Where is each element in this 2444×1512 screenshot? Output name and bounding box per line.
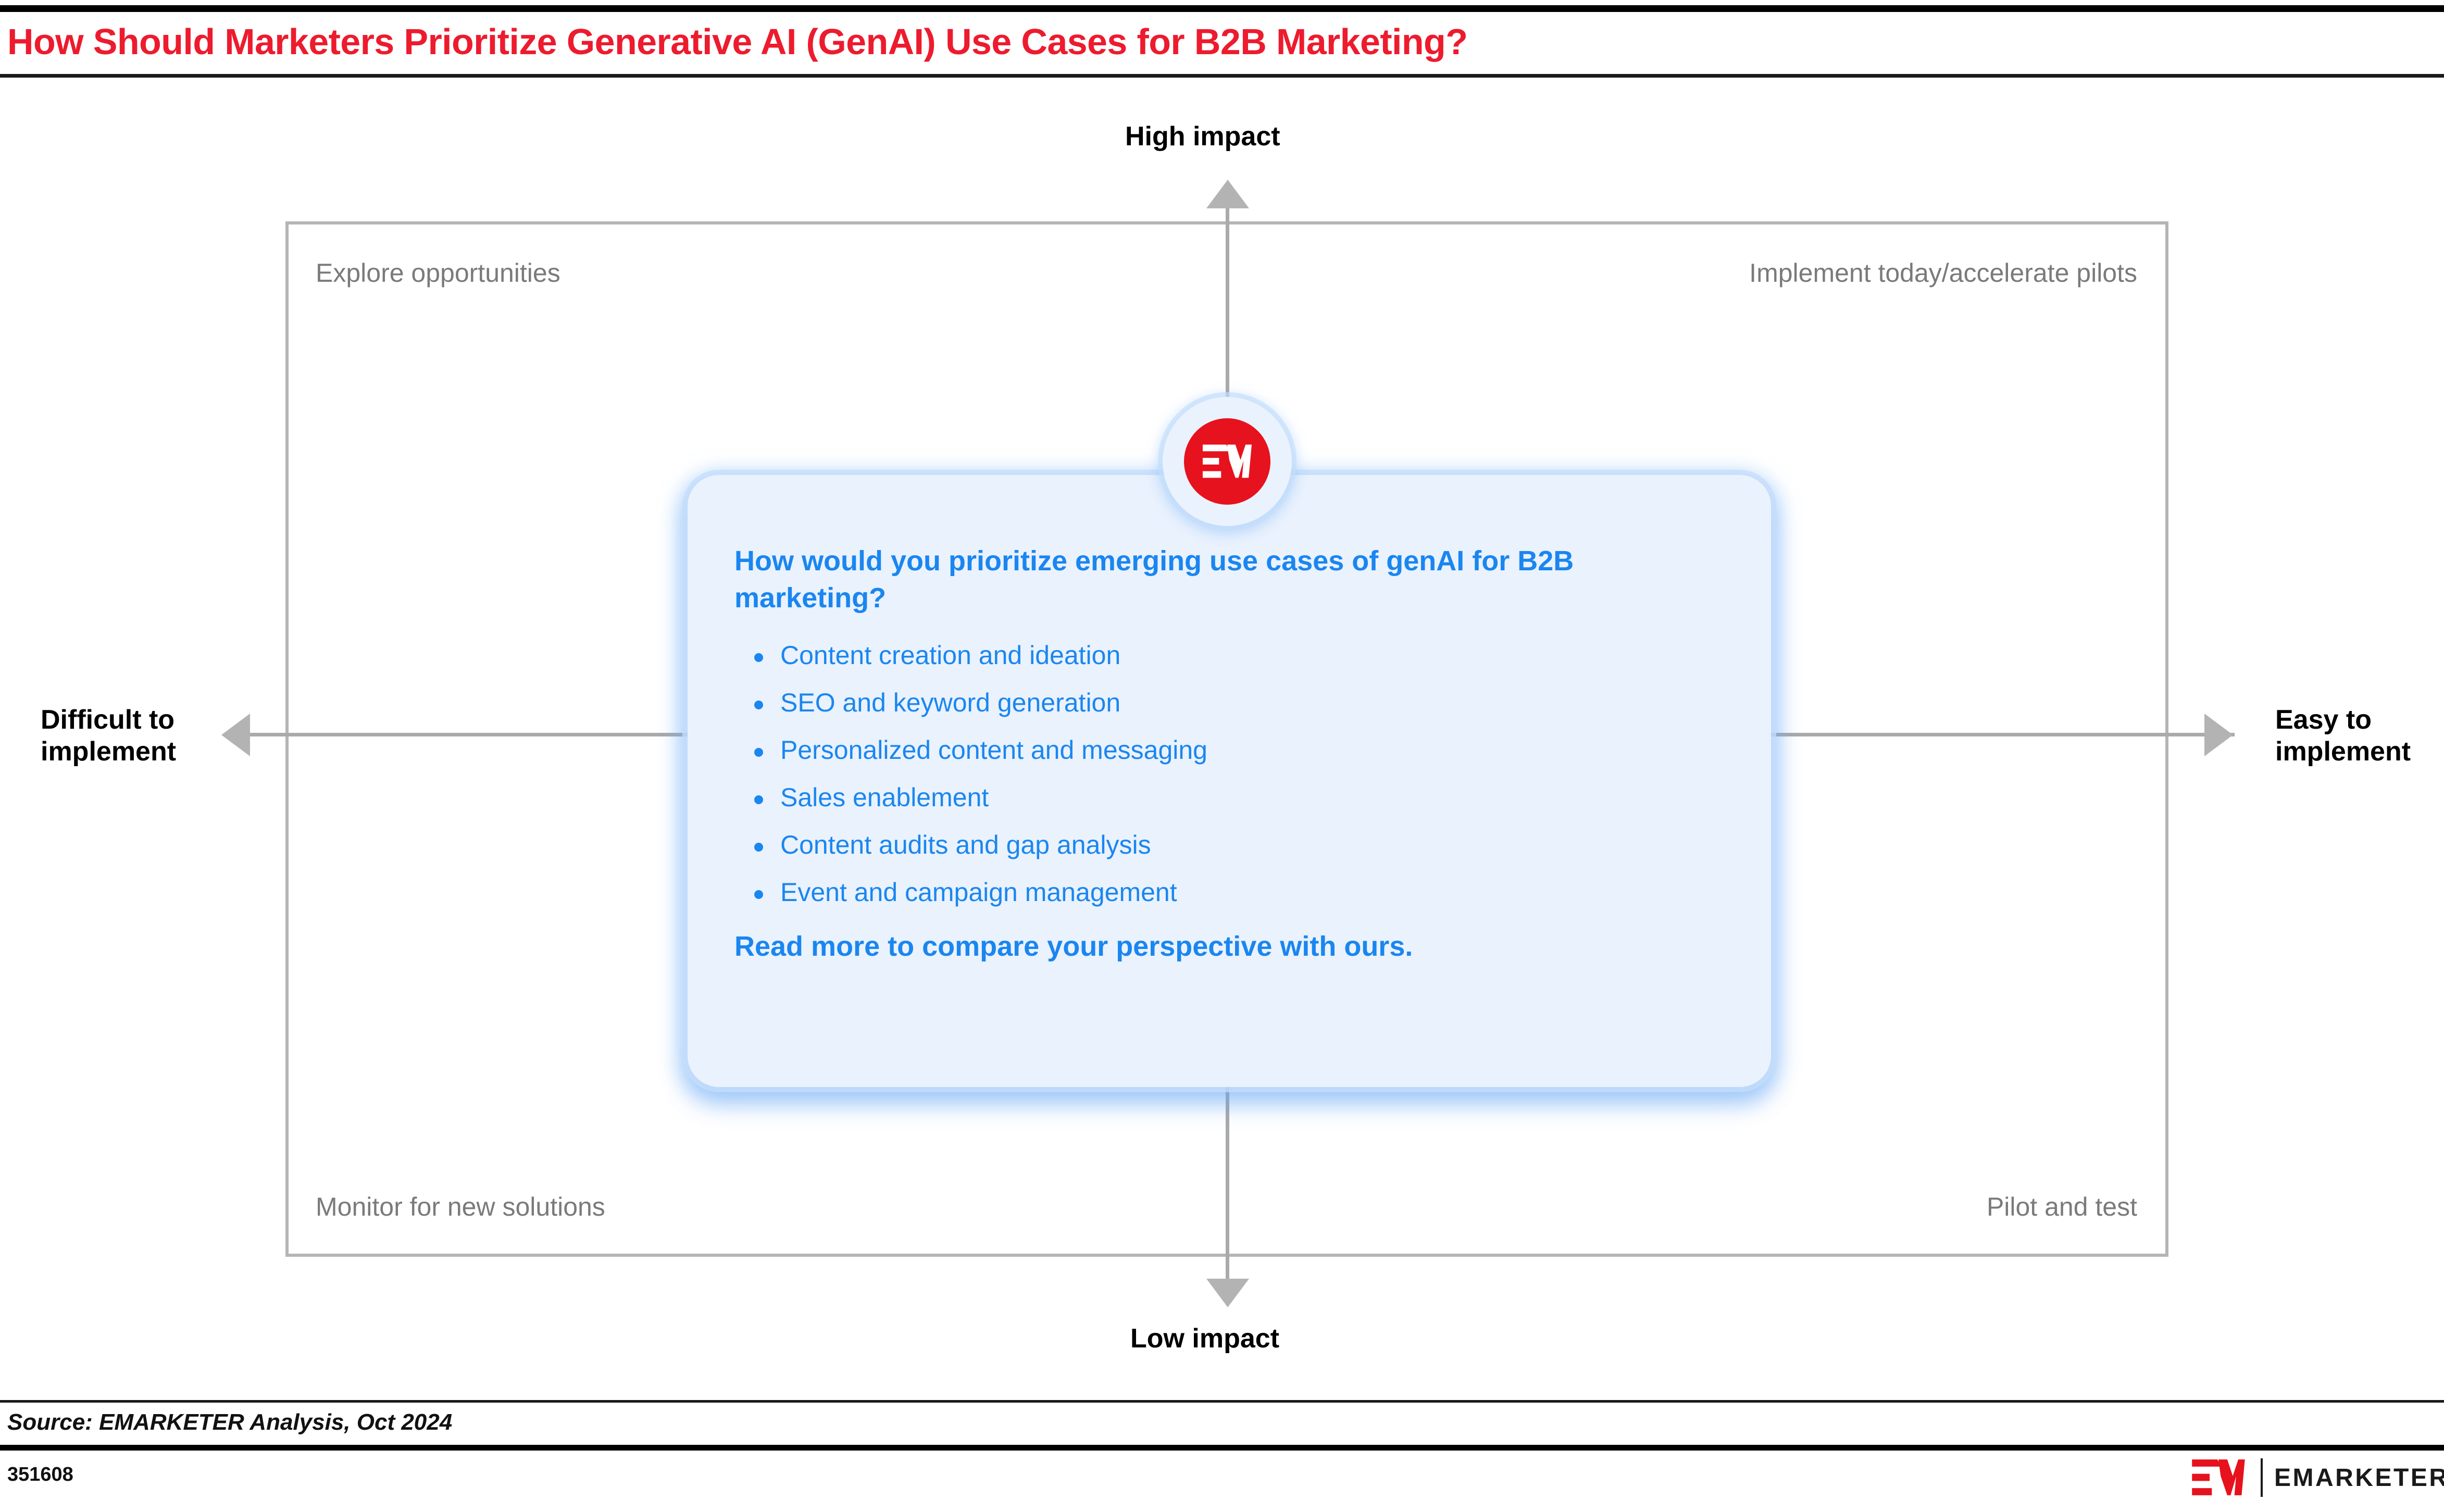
callout-heading: How would you prioritize emerging use ca… [734,543,1714,617]
axis-label-left-line2: implement [41,736,228,768]
quadrant-label-bottom-right: Pilot and test [1987,1192,2137,1222]
emarketer-logo: EMARKETER [2188,1458,2444,1497]
list-item: Content creation and ideation [734,642,1724,668]
list-item: Event and campaign management [734,879,1724,905]
quadrant-label-top-right: Implement today/accelerate pilots [1749,258,2137,288]
quadrant-label-top-left: Explore opportunities [316,258,560,288]
axis-label-left: Difficult to implement [41,704,228,768]
list-item: Personalized content and messaging [734,737,1724,763]
title-divider [0,74,2444,78]
list-item: SEO and keyword generation [734,690,1724,716]
emarketer-em-icon [1184,418,1270,505]
quadrant-label-bottom-left: Monitor for new solutions [316,1192,605,1222]
page-title: How Should Marketers Prioritize Generati… [7,21,2299,63]
footer-divider-top [0,1400,2444,1403]
list-item: Content audits and gap analysis [734,832,1724,858]
top-rule [0,5,2444,12]
list-item: Sales enablement [734,784,1724,810]
callout-content: How would you prioritize emerging use ca… [734,543,1724,963]
logo-divider [2261,1458,2263,1497]
axis-label-right-line1: Easy to [2275,704,2444,736]
axis-label-top: High impact [1125,121,1280,153]
axis-label-left-line1: Difficult to [41,704,228,736]
arrow-right-icon [2204,714,2233,756]
logo-wordmark: EMARKETER [2274,1464,2444,1492]
footer-divider-bottom [0,1445,2444,1451]
axis-label-right-line2: implement [2275,736,2444,768]
callout-card-wrapper: How would you prioritize emerging use ca… [688,475,1771,1087]
callout-cta-text[interactable]: Read more to compare your perspective wi… [734,930,1724,963]
chart-id: 351608 [7,1464,73,1486]
callout-card: How would you prioritize emerging use ca… [688,475,1771,1087]
callout-use-case-list: Content creation and ideation SEO and ke… [734,642,1724,905]
axis-label-bottom: Low impact [1130,1323,1279,1355]
source-note: Source: EMARKETER Analysis, Oct 2024 [7,1409,452,1435]
emarketer-em-icon [2188,1458,2249,1497]
arrow-up-icon [1206,180,1249,208]
arrow-down-icon [1206,1279,1249,1307]
chart-page: How Should Marketers Prioritize Generati… [0,0,2444,1512]
axis-label-right: Easy to implement [2275,704,2444,768]
